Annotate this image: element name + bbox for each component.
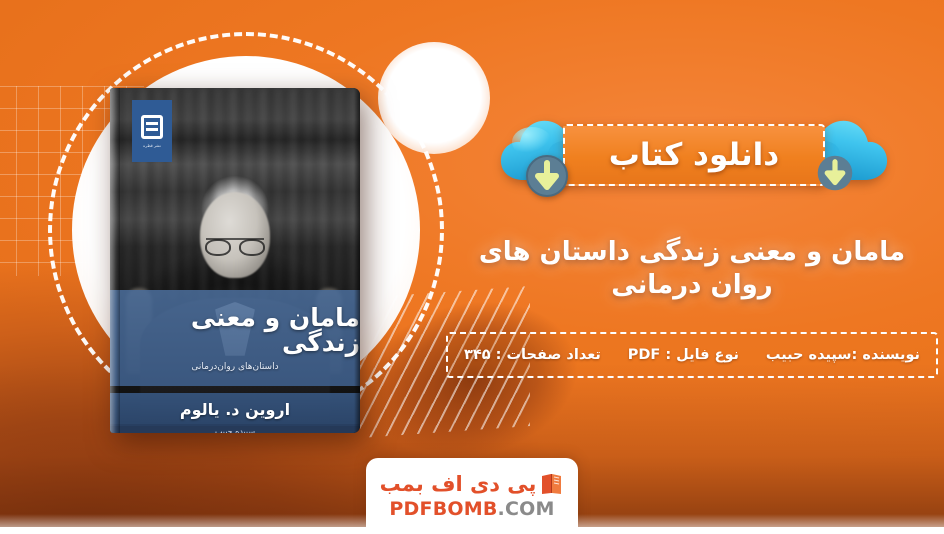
cover-translator: سپیده حبیب <box>215 427 255 433</box>
cover-translator-band: سپیده حبیب <box>110 424 360 433</box>
publisher-name: نشر قطره <box>143 143 161 148</box>
cover-subtitle: داستان‌های روان‌درمانی <box>191 362 278 372</box>
download-book-button[interactable]: دانلود کتاب <box>563 124 825 186</box>
meta-filetype: نوع فایل : PDF <box>628 347 739 363</box>
bottom-white-strip <box>0 527 944 534</box>
logo-persian-row: پی دی اف بمب <box>380 472 565 496</box>
publisher-mark-shape <box>141 115 163 139</box>
eyeglasses-icon <box>206 238 264 251</box>
download-arrow-icon-left <box>525 154 569 198</box>
book-edge-shadow <box>354 88 360 433</box>
book-download-banner: نشر قطره مامان و معنی زندگی داستان‌های ر… <box>0 0 944 534</box>
cover-author-band: اروین د. یالوم <box>110 393 360 426</box>
book-logo-icon <box>540 473 564 495</box>
download-book-label: دانلود کتاب <box>609 137 779 173</box>
content-column: دانلود کتاب مامان و معنی زندگی داستان ها… <box>440 0 944 534</box>
book-spine-highlight <box>110 88 120 433</box>
meta-pages: تعداد صفحات : ۳۴۵ <box>464 347 601 363</box>
book-cover-inner: نشر قطره مامان و معنی زندگی داستان‌های ر… <box>110 88 360 433</box>
bottom-strip-glow <box>0 514 944 528</box>
publisher-logo-icon: نشر قطره <box>132 100 172 162</box>
cover-author: اروین د. یالوم <box>180 400 290 419</box>
logo-persian-text: پی دی اف بمب <box>380 472 537 496</box>
book-cover[interactable]: نشر قطره مامان و معنی زندگی داستان‌های ر… <box>110 88 360 433</box>
meta-author: نویسنده :سپیده حبیب <box>766 347 920 363</box>
cover-title: مامان و معنی زندگی <box>110 305 360 355</box>
cover-title-band: مامان و معنی زندگی داستان‌های روان‌درمان… <box>110 290 360 387</box>
book-title-heading: مامان و معنی زندگی داستان های روان درمان… <box>448 236 936 301</box>
download-arrow-icon-right <box>816 154 854 192</box>
download-row: دانلود کتاب <box>498 108 888 208</box>
book-metadata-bar: نویسنده :سپیده حبیب نوع فایل : PDF تعداد… <box>446 332 938 378</box>
portrait-head <box>200 192 270 278</box>
